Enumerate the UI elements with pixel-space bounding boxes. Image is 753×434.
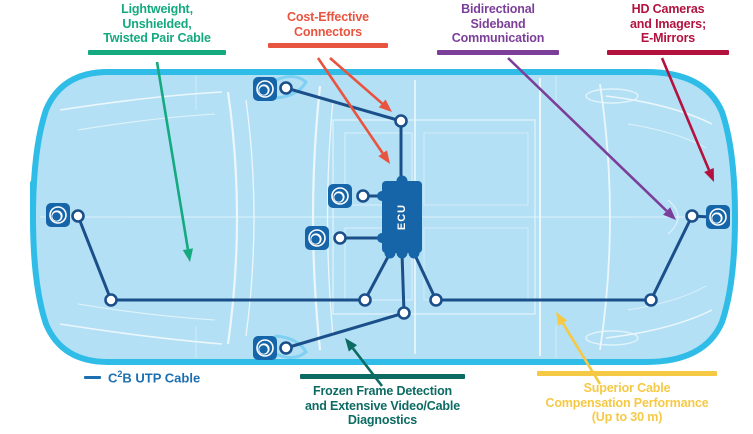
callout-line: HD Cameras	[607, 2, 729, 17]
callout-bar	[300, 374, 465, 379]
callout-bar	[607, 50, 729, 55]
legend-line-swatch	[84, 376, 101, 379]
callout-text: HD Camerasand Imagers;E-Mirrors	[607, 2, 729, 46]
callout-text: Cost-EffectiveConnectors	[268, 10, 388, 39]
arrow-connectors-b-head	[378, 150, 390, 164]
arrow-superior-cable-head	[556, 312, 567, 326]
arrow-connectors-a	[330, 58, 382, 103]
arrow-lightweight-cable	[157, 62, 188, 249]
arrow-sideband	[508, 58, 667, 211]
callout-text: BidirectionalSidebandCommunication	[437, 2, 559, 46]
arrow-hd-cameras	[662, 58, 709, 170]
callout-line: and Extensive Video/Cable	[300, 399, 465, 414]
callout-line: Connectors	[268, 25, 388, 40]
callout-text: Lightweight,Unshielded,Twisted Pair Cabl…	[88, 2, 226, 46]
callout-line: E-Mirrors	[607, 31, 729, 46]
callout-bar	[537, 371, 717, 376]
ecu-label: ECU	[396, 204, 408, 230]
callout-line: Sideband	[437, 17, 559, 32]
callout-bidirectional-sideband: BidirectionalSidebandCommunication	[437, 2, 559, 55]
callout-line: Lightweight,	[88, 2, 226, 17]
callout-line: Diagnostics	[300, 413, 465, 428]
legend: C2B UTP Cable	[84, 369, 200, 385]
callout-lightweight-cable: Lightweight,Unshielded,Twisted Pair Cabl…	[88, 2, 226, 55]
callout-line: Unshielded,	[88, 17, 226, 32]
arrow-connectors-b	[318, 58, 383, 153]
callout-superior-cable-compensation: Superior CableCompensation Performance(U…	[537, 371, 717, 425]
callout-line: Cost-Effective	[268, 10, 388, 25]
callout-cost-effective-connectors: Cost-EffectiveConnectors	[268, 10, 388, 48]
callout-frozen-frame-detection: Frozen Frame Detectionand Extensive Vide…	[300, 374, 465, 428]
callout-bar	[437, 50, 559, 55]
callout-line: Frozen Frame Detection	[300, 384, 465, 399]
arrow-hd-cameras-head	[704, 168, 714, 182]
callout-bar	[88, 50, 226, 55]
callout-line: and Imagers;	[607, 17, 729, 32]
diagram-root: ECU Lightweight,Unshielded,Twisted Pair …	[0, 0, 753, 434]
callout-hd-cameras-imagers: HD Camerasand Imagers;E-Mirrors	[607, 2, 729, 55]
callout-text: Frozen Frame Detectionand Extensive Vide…	[300, 384, 465, 428]
callout-line: Twisted Pair Cable	[88, 31, 226, 46]
callout-line: Superior Cable	[537, 381, 717, 396]
arrow-lightweight-cable-head	[183, 248, 193, 262]
callout-line: Bidirectional	[437, 2, 559, 17]
callout-line: Communication	[437, 31, 559, 46]
callout-bar	[268, 43, 388, 48]
callout-line: (Up to 30 m)	[537, 410, 717, 425]
callout-text: Superior CableCompensation Performance(U…	[537, 381, 717, 425]
callout-line: Compensation Performance	[537, 396, 717, 411]
legend-label: C2B UTP Cable	[108, 369, 200, 385]
